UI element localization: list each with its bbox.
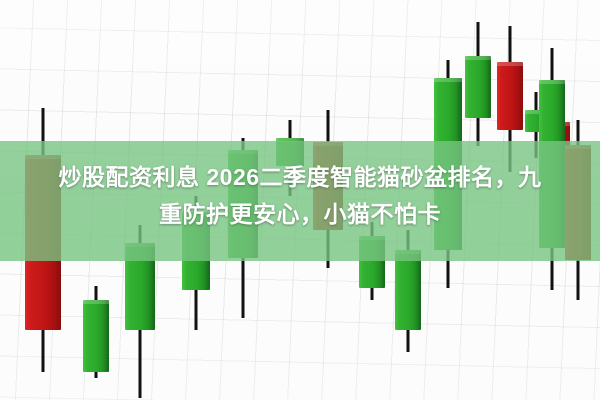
candlestick-body-up [395,250,421,330]
candlestick-body-up [465,56,491,118]
candlestick-body-down [497,62,523,130]
green-banner-band [0,141,600,261]
candlestick-body-up [83,300,109,372]
candlestick-chart-image: 炒股配资利息 2026二季度智能猫砂盆排名，九 重防护更安心，小猫不怕卡 [0,0,600,400]
